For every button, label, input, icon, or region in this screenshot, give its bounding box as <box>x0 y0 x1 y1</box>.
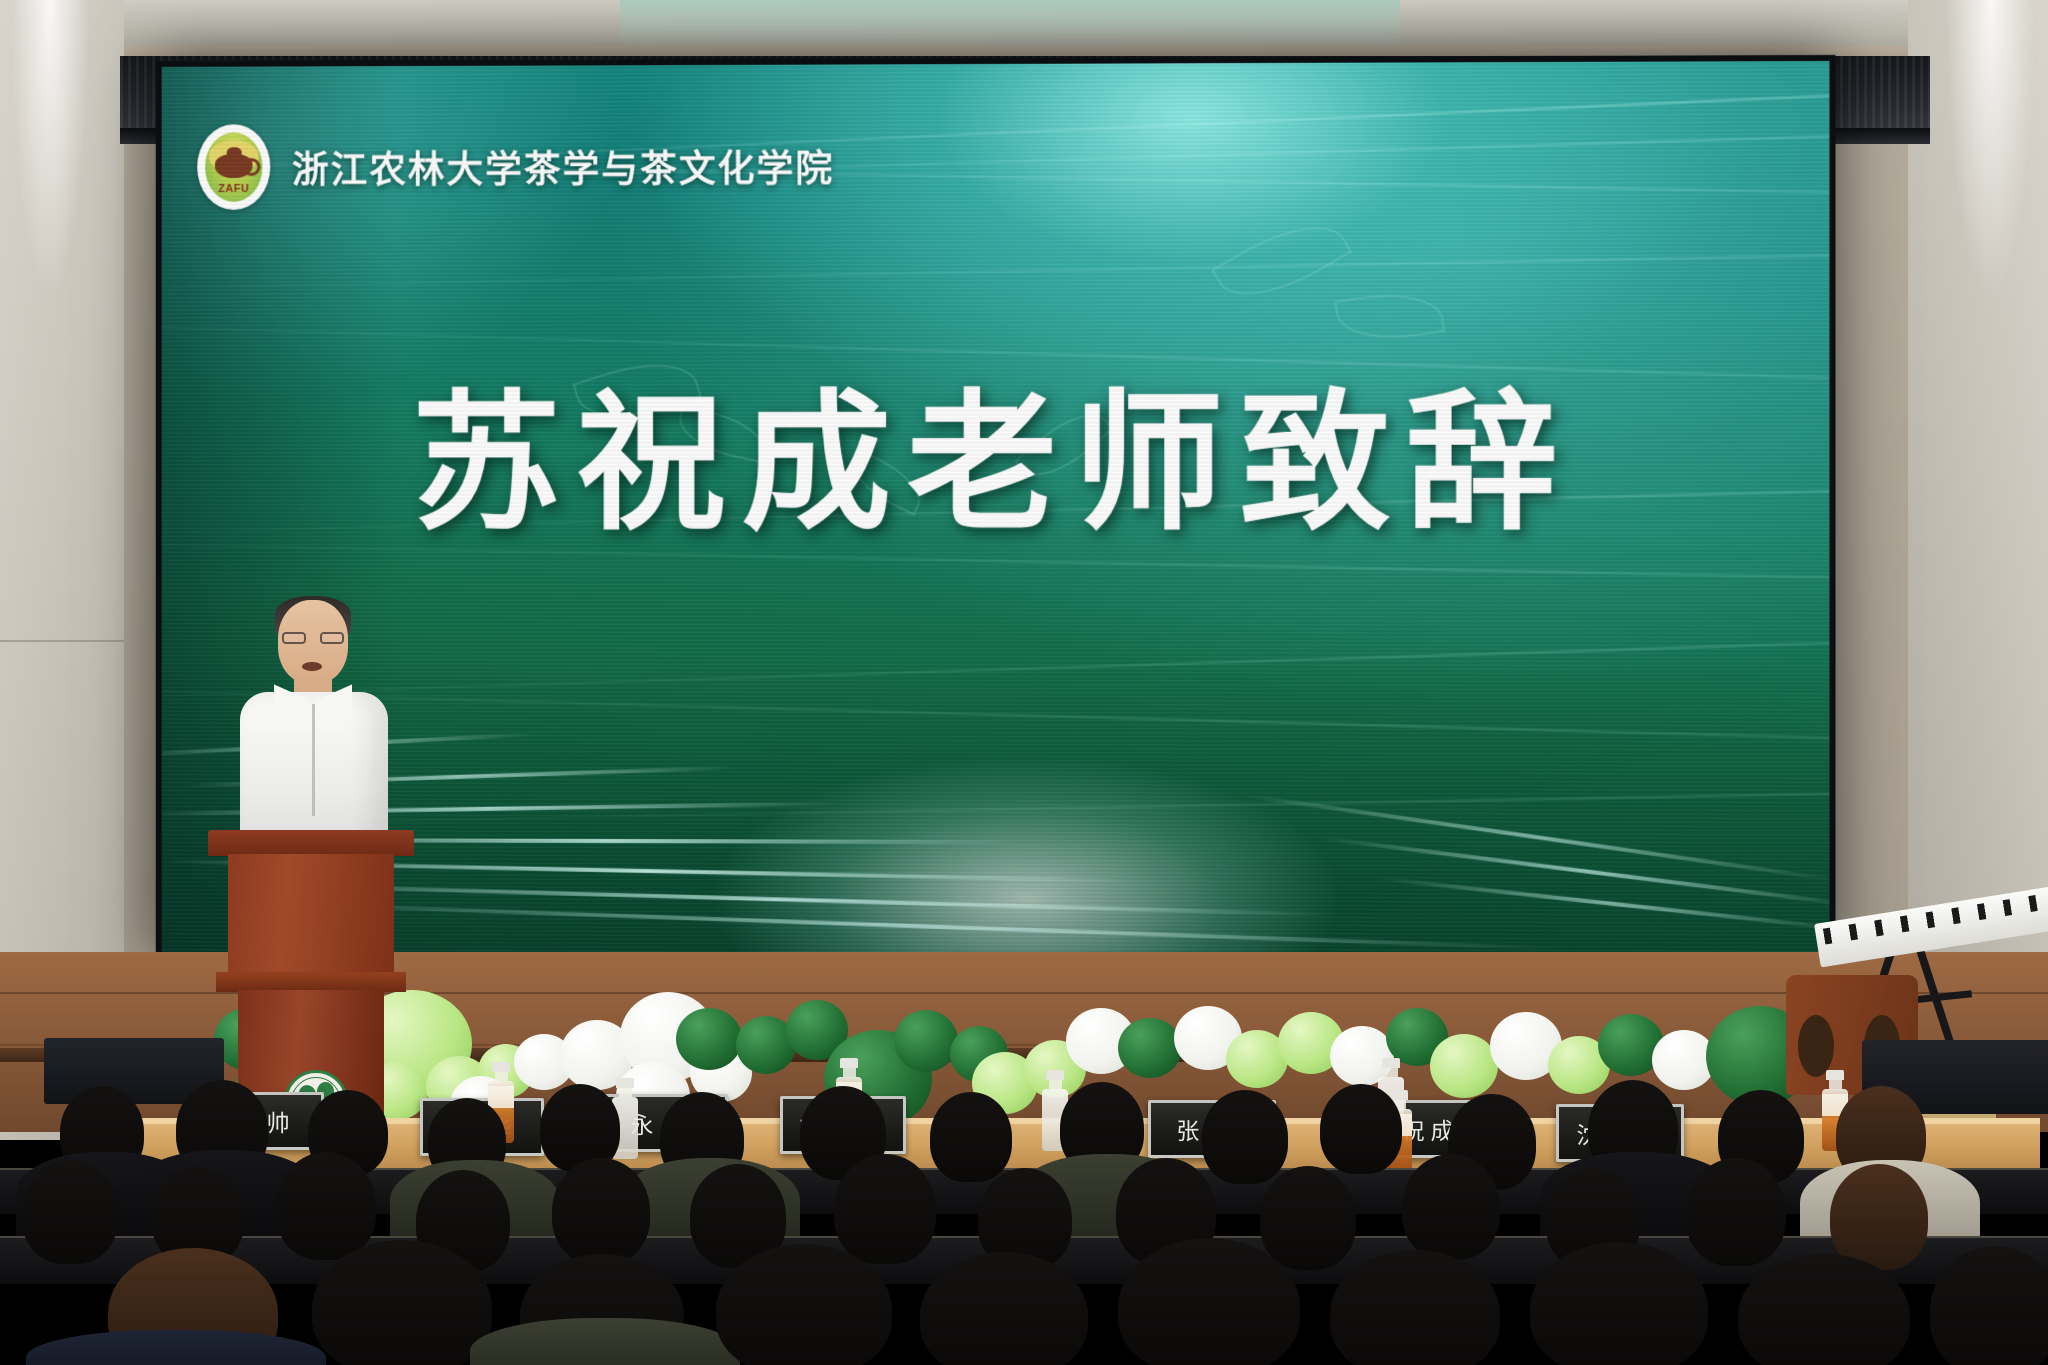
presentation-screen: ZAFU 浙江农林大学茶学与茶文化学院 苏祝成老师致辞 <box>162 61 1830 961</box>
audience-head <box>1320 1084 1402 1174</box>
audience-head <box>1118 1238 1300 1365</box>
glasses-icon <box>282 632 344 644</box>
right-wall <box>1908 0 2048 1000</box>
slide-organization: 浙江农林大学茶学与茶文化学院 <box>292 138 834 193</box>
balloon <box>894 1010 958 1072</box>
audience-head <box>1202 1090 1288 1184</box>
speaker-person <box>228 600 398 860</box>
audience-head <box>1260 1166 1356 1270</box>
shirt-placket <box>312 704 315 816</box>
audience-shoulders <box>26 1330 326 1365</box>
podium-body <box>228 854 394 974</box>
audience-head <box>276 1152 376 1260</box>
audience-head <box>834 1154 936 1264</box>
wall-seam <box>0 640 124 642</box>
audience-head <box>1530 1242 1708 1365</box>
audience-head <box>930 1092 1012 1182</box>
audience-head <box>552 1158 650 1264</box>
wall-light-glow <box>1946 0 2036 300</box>
audience-head <box>22 1160 118 1264</box>
audience-head <box>1402 1154 1500 1260</box>
wall-light-glow <box>10 0 90 300</box>
audience-head <box>716 1244 892 1365</box>
slide-title: 苏祝成老师致辞 <box>162 341 1830 559</box>
speaker-mouth <box>302 662 322 671</box>
balloon <box>1118 1018 1182 1078</box>
audience-head <box>1830 1164 1928 1270</box>
balloon <box>1430 1034 1498 1098</box>
zafu-logo-icon: ZAFU <box>197 124 270 210</box>
screen-light-streaks <box>162 697 1830 961</box>
audience-head <box>312 1240 492 1365</box>
podium-waist <box>216 972 406 992</box>
balloon <box>676 1008 742 1070</box>
ceiling-tint <box>620 0 1400 48</box>
audience-head <box>1686 1158 1786 1266</box>
slide-header: ZAFU 浙江农林大学茶学与茶文化学院 <box>197 122 834 209</box>
podium-top <box>208 830 414 856</box>
zafu-acronym: ZAFU <box>205 183 262 195</box>
lecture-hall-scene: ZAFU 浙江农林大学茶学与茶文化学院 苏祝成老师致辞 <box>0 0 2048 1365</box>
audience-shoulders <box>470 1318 740 1365</box>
